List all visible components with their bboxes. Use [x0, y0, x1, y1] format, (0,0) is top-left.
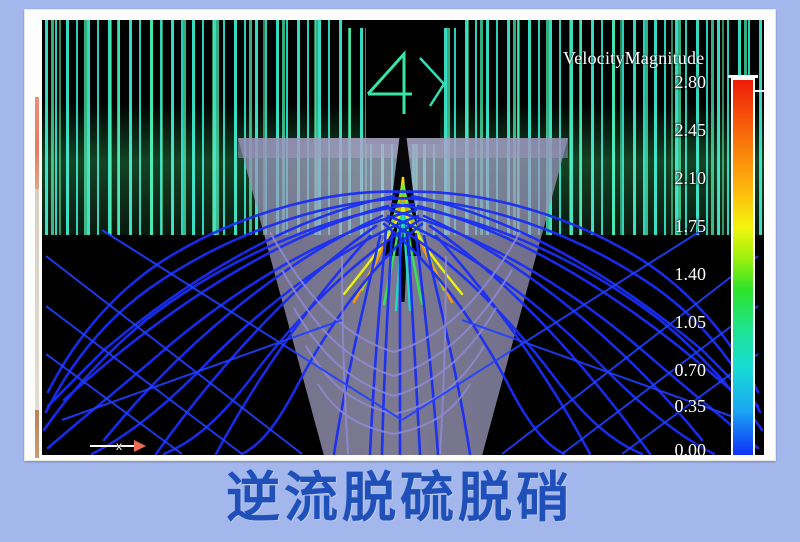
colorbar-tick-label: 1.05 — [646, 312, 706, 333]
colorbar-tick-label: 1.40 — [646, 264, 706, 285]
colorbar-tick-label: 0.00 — [646, 440, 706, 455]
colorbar-range-min-label: 0.00 — [760, 454, 764, 455]
page-root: x VelocityMagnitude 2.80 2.45 2.10 1.75 … — [0, 0, 800, 542]
colorbar-tick-label: 2.10 — [646, 168, 706, 189]
render-canvas: x VelocityMagnitude 2.80 2.45 2.10 1.75 … — [42, 20, 764, 455]
colorbar-title: VelocityMagnitude — [563, 48, 704, 69]
caption-text: 逆流脱硫脱硝 — [0, 470, 800, 527]
colorbar-gradient — [733, 80, 753, 455]
frame-left-sliver-orange — [35, 97, 39, 189]
colorbar-tick-label: 0.70 — [646, 360, 706, 381]
frame-left-sliver-grey — [35, 189, 39, 429]
colorbar-tick-label: 2.45 — [646, 120, 706, 141]
colorbar-tick-label: 1.75 — [646, 216, 706, 237]
axis-label-x: x — [116, 439, 122, 453]
colorbar-max-tickmark — [754, 90, 764, 92]
frame-left-sliver-brown — [35, 410, 39, 458]
colorbar-tick-label: 0.35 — [646, 396, 706, 417]
colorbar-tick-label: 2.80 — [646, 72, 706, 93]
